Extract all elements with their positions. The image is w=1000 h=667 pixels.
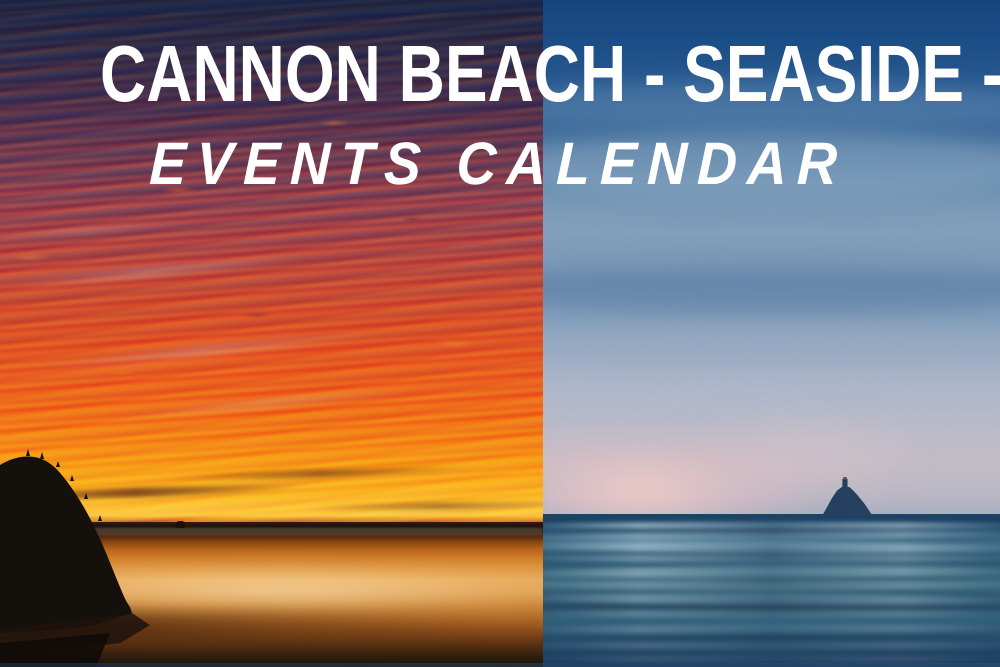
cloud-dapple-layer [0,27,543,507]
surf-foam [543,655,1000,663]
cloud-band [543,207,1000,265]
cloud-band [543,327,1000,367]
surf-foam [543,609,1000,618]
cloud-band [543,270,1000,314]
cloud-band [543,133,1000,199]
cloud-band [543,80,1000,130]
bottom-edge-strip [0,663,1000,667]
ocean-surf [543,514,1000,667]
surf-foam [543,554,1000,563]
headland-silhouette [0,447,228,667]
surf-foam [543,580,1000,590]
stormy-ocean-photo [543,0,1000,667]
events-calendar-banner: CANNON BEACH - SEASIDE - ASTORIA EVENTS … [0,0,1000,667]
sunset-beach-photo [0,0,543,667]
surf-foam [543,641,1000,650]
surf-foam [543,522,1000,529]
